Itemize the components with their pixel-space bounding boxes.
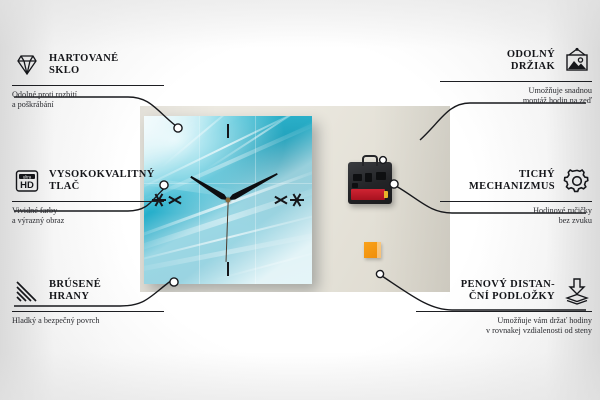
feature-desc-line2: montáž hodin na zeď — [440, 96, 592, 106]
divider — [12, 201, 164, 202]
beveled-edge-icon — [12, 276, 42, 306]
mechanism-shaft — [362, 155, 378, 166]
clock-center-hub — [226, 198, 231, 203]
feature-desc-line1: Hodinové ručičky — [440, 206, 592, 216]
feature-title-line2: SKLO — [49, 65, 119, 78]
feature-title-line2: MECHANIZMUS — [469, 181, 555, 194]
feature-desc-line2: a poškrábání — [12, 100, 164, 110]
feature-title-line1: ODOLNÝ — [507, 49, 555, 62]
feature-desc-line2: bez zvuku — [440, 216, 592, 226]
feature-desc-line1: Umožňuje vám držať hodiny — [416, 316, 592, 326]
divider — [440, 201, 592, 202]
diamond-icon — [12, 50, 42, 80]
feature-desc-line1: Hladký a bezpečný povrch — [12, 316, 164, 326]
divider — [12, 85, 164, 86]
feature-desc-line1: Vividné farby — [12, 206, 164, 216]
wall-clock — [144, 116, 312, 284]
feature-title-line2: ČNÍ PODLOŽKY — [461, 291, 555, 304]
feature-title-line1: BRÚSENÉ — [49, 279, 101, 292]
ultra-hd-icon: ultra HD — [12, 166, 42, 196]
feature-title-line2: DRŽIAK — [507, 61, 555, 74]
feature-desc-line2: a výrazný obraz — [12, 216, 164, 226]
layers-down-arrow-icon — [562, 276, 592, 306]
clock-tick — [227, 262, 229, 276]
battery — [351, 189, 385, 200]
foam-spacer-pad — [364, 242, 381, 258]
feature-silent-mechanism: TICHÝ MECHANIZMUS Hodinové ručičky bez z… — [440, 166, 592, 227]
feature-desc-line2: v rovnakej vzdialenosti od steny — [416, 326, 592, 336]
feature-durable-hanger: ODOLNÝ DRŽIAK Umožňuje snadnou montáž ho… — [440, 46, 592, 107]
clock-tick — [227, 124, 229, 138]
hanging-frame-icon — [562, 46, 592, 76]
feature-hardened-glass: HARTOVANÉ SKLO Odolné proti rozbití a po… — [12, 50, 164, 111]
divider — [416, 311, 592, 312]
feature-desc-line1: Umožňuje snadnou — [440, 86, 592, 96]
feature-desc-line1: Odolné proti rozbití — [12, 90, 164, 100]
infographic-canvas: HARTOVANÉ SKLO Odolné proti rozbití a po… — [0, 0, 600, 400]
feature-title-line2: HRANY — [49, 291, 101, 304]
hd-label: HD — [20, 180, 34, 191]
feature-title-line1: PENOVÝ DISTAN- — [461, 279, 555, 292]
divider — [440, 81, 592, 82]
product-photo — [140, 106, 450, 292]
clock-mechanism — [348, 162, 392, 204]
feature-high-quality-print: ultra HD VYSOKOKVALITNÝ TLAČ Vividné far… — [12, 166, 164, 227]
gear-icon — [562, 166, 592, 196]
feature-title-line1: VYSOKOKVALITNÝ — [49, 169, 155, 182]
feature-title-line1: TICHÝ — [469, 169, 555, 182]
feature-title-line2: TLAČ — [49, 181, 155, 194]
feature-foam-spacers: PENOVÝ DISTAN- ČNÍ PODLOŽKY Umožňuje vám… — [416, 276, 592, 337]
ultra-label: ultra — [23, 174, 32, 179]
divider — [12, 311, 164, 312]
feature-title-line1: HARTOVANÉ — [49, 53, 119, 66]
feature-ground-edges: BRÚSENÉ HRANY Hladký a bezpečný povrch — [12, 276, 164, 326]
